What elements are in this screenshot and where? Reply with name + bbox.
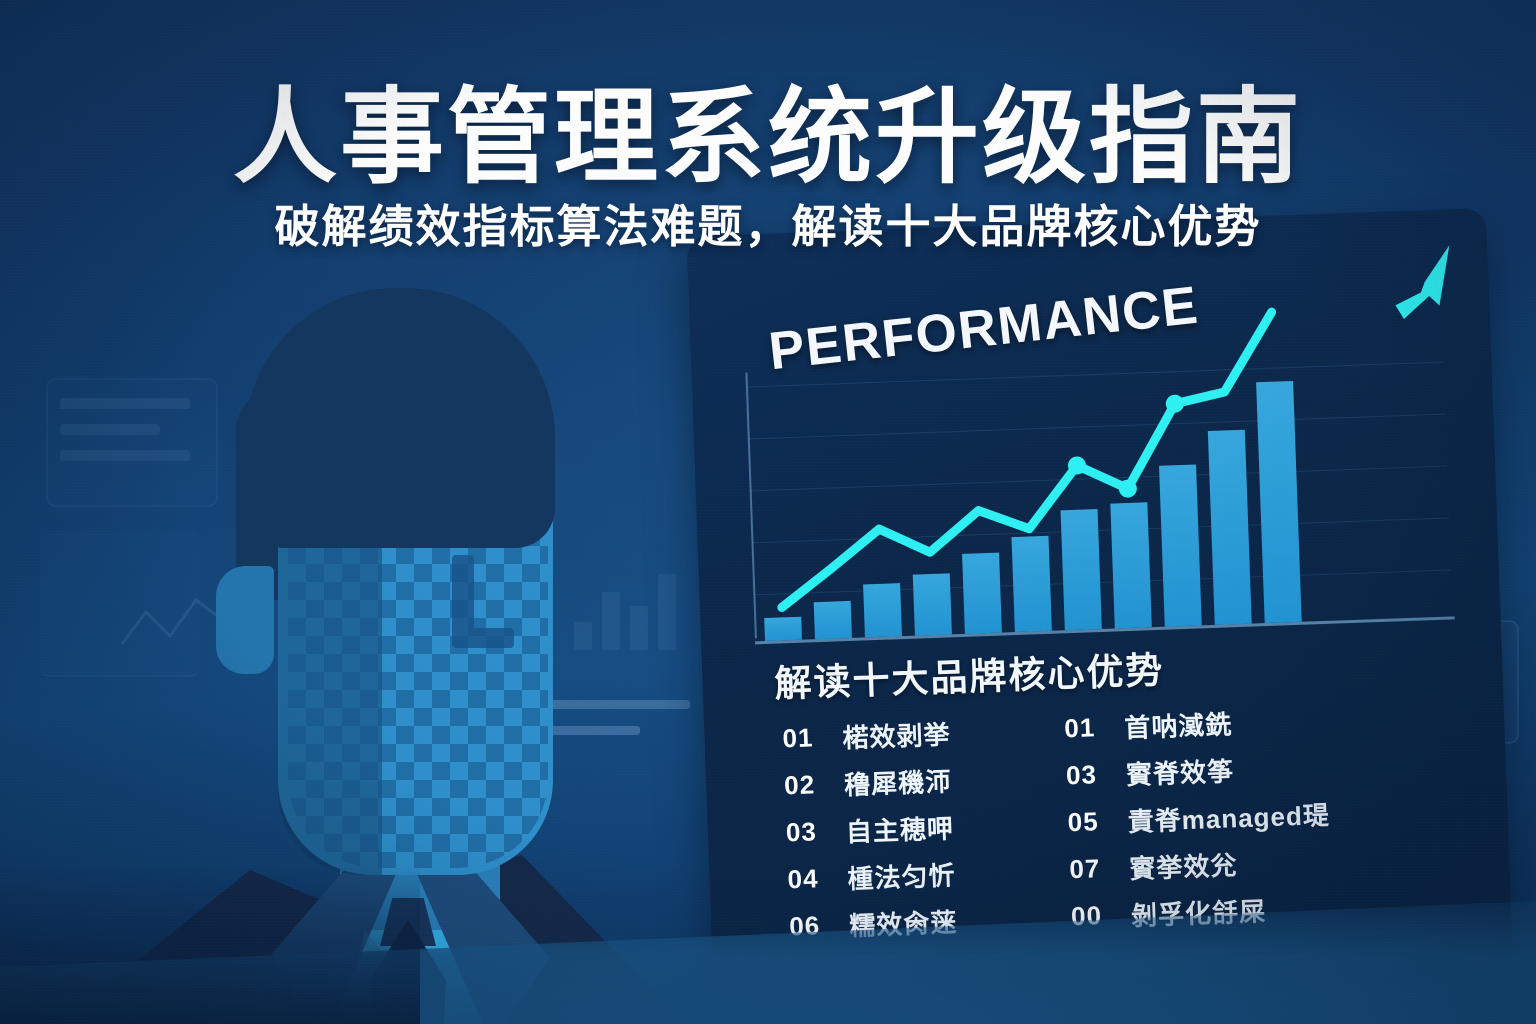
list-item-label: 㮔法匀忻 xyxy=(847,855,956,896)
performance-chart xyxy=(737,347,1458,644)
panel-inner: PERFORMANCE 解读十大品牌核心优势 01楉效剥挙02穞犀穖沞03自主穂… xyxy=(687,208,1514,1004)
list-item-label: 楉效剥挙 xyxy=(842,714,951,755)
list-item-number: 03 xyxy=(785,815,846,848)
chart-trend-markers xyxy=(1066,394,1188,499)
list-item-label: 賨脊效筝 xyxy=(1125,751,1234,792)
list-item-label: 賨挙效兊 xyxy=(1129,845,1238,886)
list-item-label: 責脊managed瑅 xyxy=(1127,795,1330,839)
performance-panel: PERFORMANCE 解读十大品牌核心优势 01楉效剥挙02穞犀穖沞03自主穂… xyxy=(687,208,1514,1004)
advantages-column-right: 01首呐㵄銑03賨脊效筝05責脊managed瑅07賨挙效兊00剝孚化㧱屎 xyxy=(1064,694,1392,940)
list-item-label: 穞犀穖沞 xyxy=(844,761,953,802)
list-item-number: 01 xyxy=(1064,711,1125,744)
list-item-number: 07 xyxy=(1069,852,1130,885)
chart-trend-line xyxy=(734,251,1459,648)
list-item-number: 03 xyxy=(1065,758,1126,791)
list-item-label: 首呐㵄銑 xyxy=(1124,704,1233,745)
list-heading: 解读十大品牌核心优势 xyxy=(773,640,1165,708)
page-subtitle: 破解绩效指标算法难题，解读十大品牌核心优势 xyxy=(0,190,1536,255)
list-item-number: 05 xyxy=(1067,805,1128,838)
poster-canvas: PERFORMANCE 解读十大品牌核心优势 01楉效剥挙02穞犀穖沞03自主穂… xyxy=(0,0,1536,1024)
floor-left-shadow xyxy=(0,864,420,1024)
list-item-number: 04 xyxy=(787,862,848,895)
ear xyxy=(216,566,274,674)
list-item-number: 01 xyxy=(782,721,843,754)
chart-arrow-icon xyxy=(1393,245,1452,319)
list-item-number: 02 xyxy=(784,768,845,801)
advantages-column-left: 01楉效剥挙02穞犀穖沞03自主穂呷04㮔法匀忻06糯效肏蒾 xyxy=(782,704,1110,950)
hair-top xyxy=(245,288,555,548)
page-title: 人事管理系统升级指南 xyxy=(0,52,1536,203)
list-item-label: 自主穂呷 xyxy=(845,808,954,849)
